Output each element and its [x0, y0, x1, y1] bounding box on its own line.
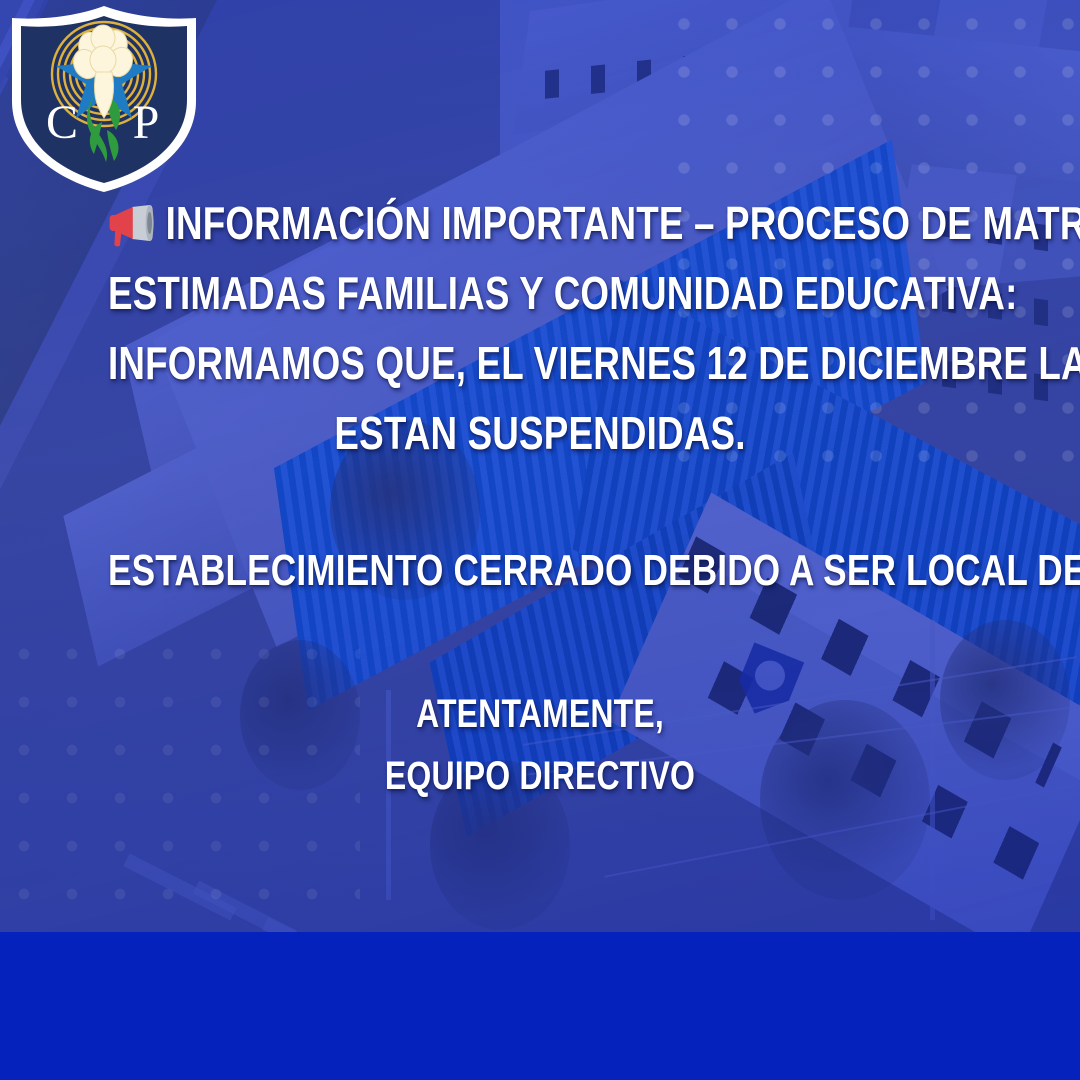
megaphone-icon	[108, 203, 154, 247]
announcement-poster: C P INFORMACIÓN IMPORTANTE – PR	[0, 0, 1080, 1080]
footer-bar	[0, 932, 1080, 1080]
closing-line: ATENTAMENTE,	[108, 692, 972, 737]
greeting-line: ESTIMADAS FAMILIAS Y COMUNIDAD EDUCATIVA…	[108, 266, 972, 320]
announcement-title: INFORMACIÓN IMPORTANTE – PROCESO DE MATR…	[166, 196, 1080, 250]
body-line-1: INFORMAMOS QUE, EL VIERNES 12 DE DICIEMB…	[108, 336, 972, 390]
announcement-title-line: INFORMACIÓN IMPORTANTE – PROCESO DE MATR…	[108, 196, 972, 256]
body-line-2: ESTAN SUSPENDIDAS.	[108, 406, 972, 460]
signer-line: EQUIPO DIRECTIVO	[108, 754, 972, 799]
announcement-text-block: INFORMACIÓN IMPORTANTE – PROCESO DE MATR…	[0, 0, 1080, 932]
closure-notice-line: ESTABLECIMIENTO CERRADO DEBIDO A SER LOC…	[108, 546, 972, 596]
